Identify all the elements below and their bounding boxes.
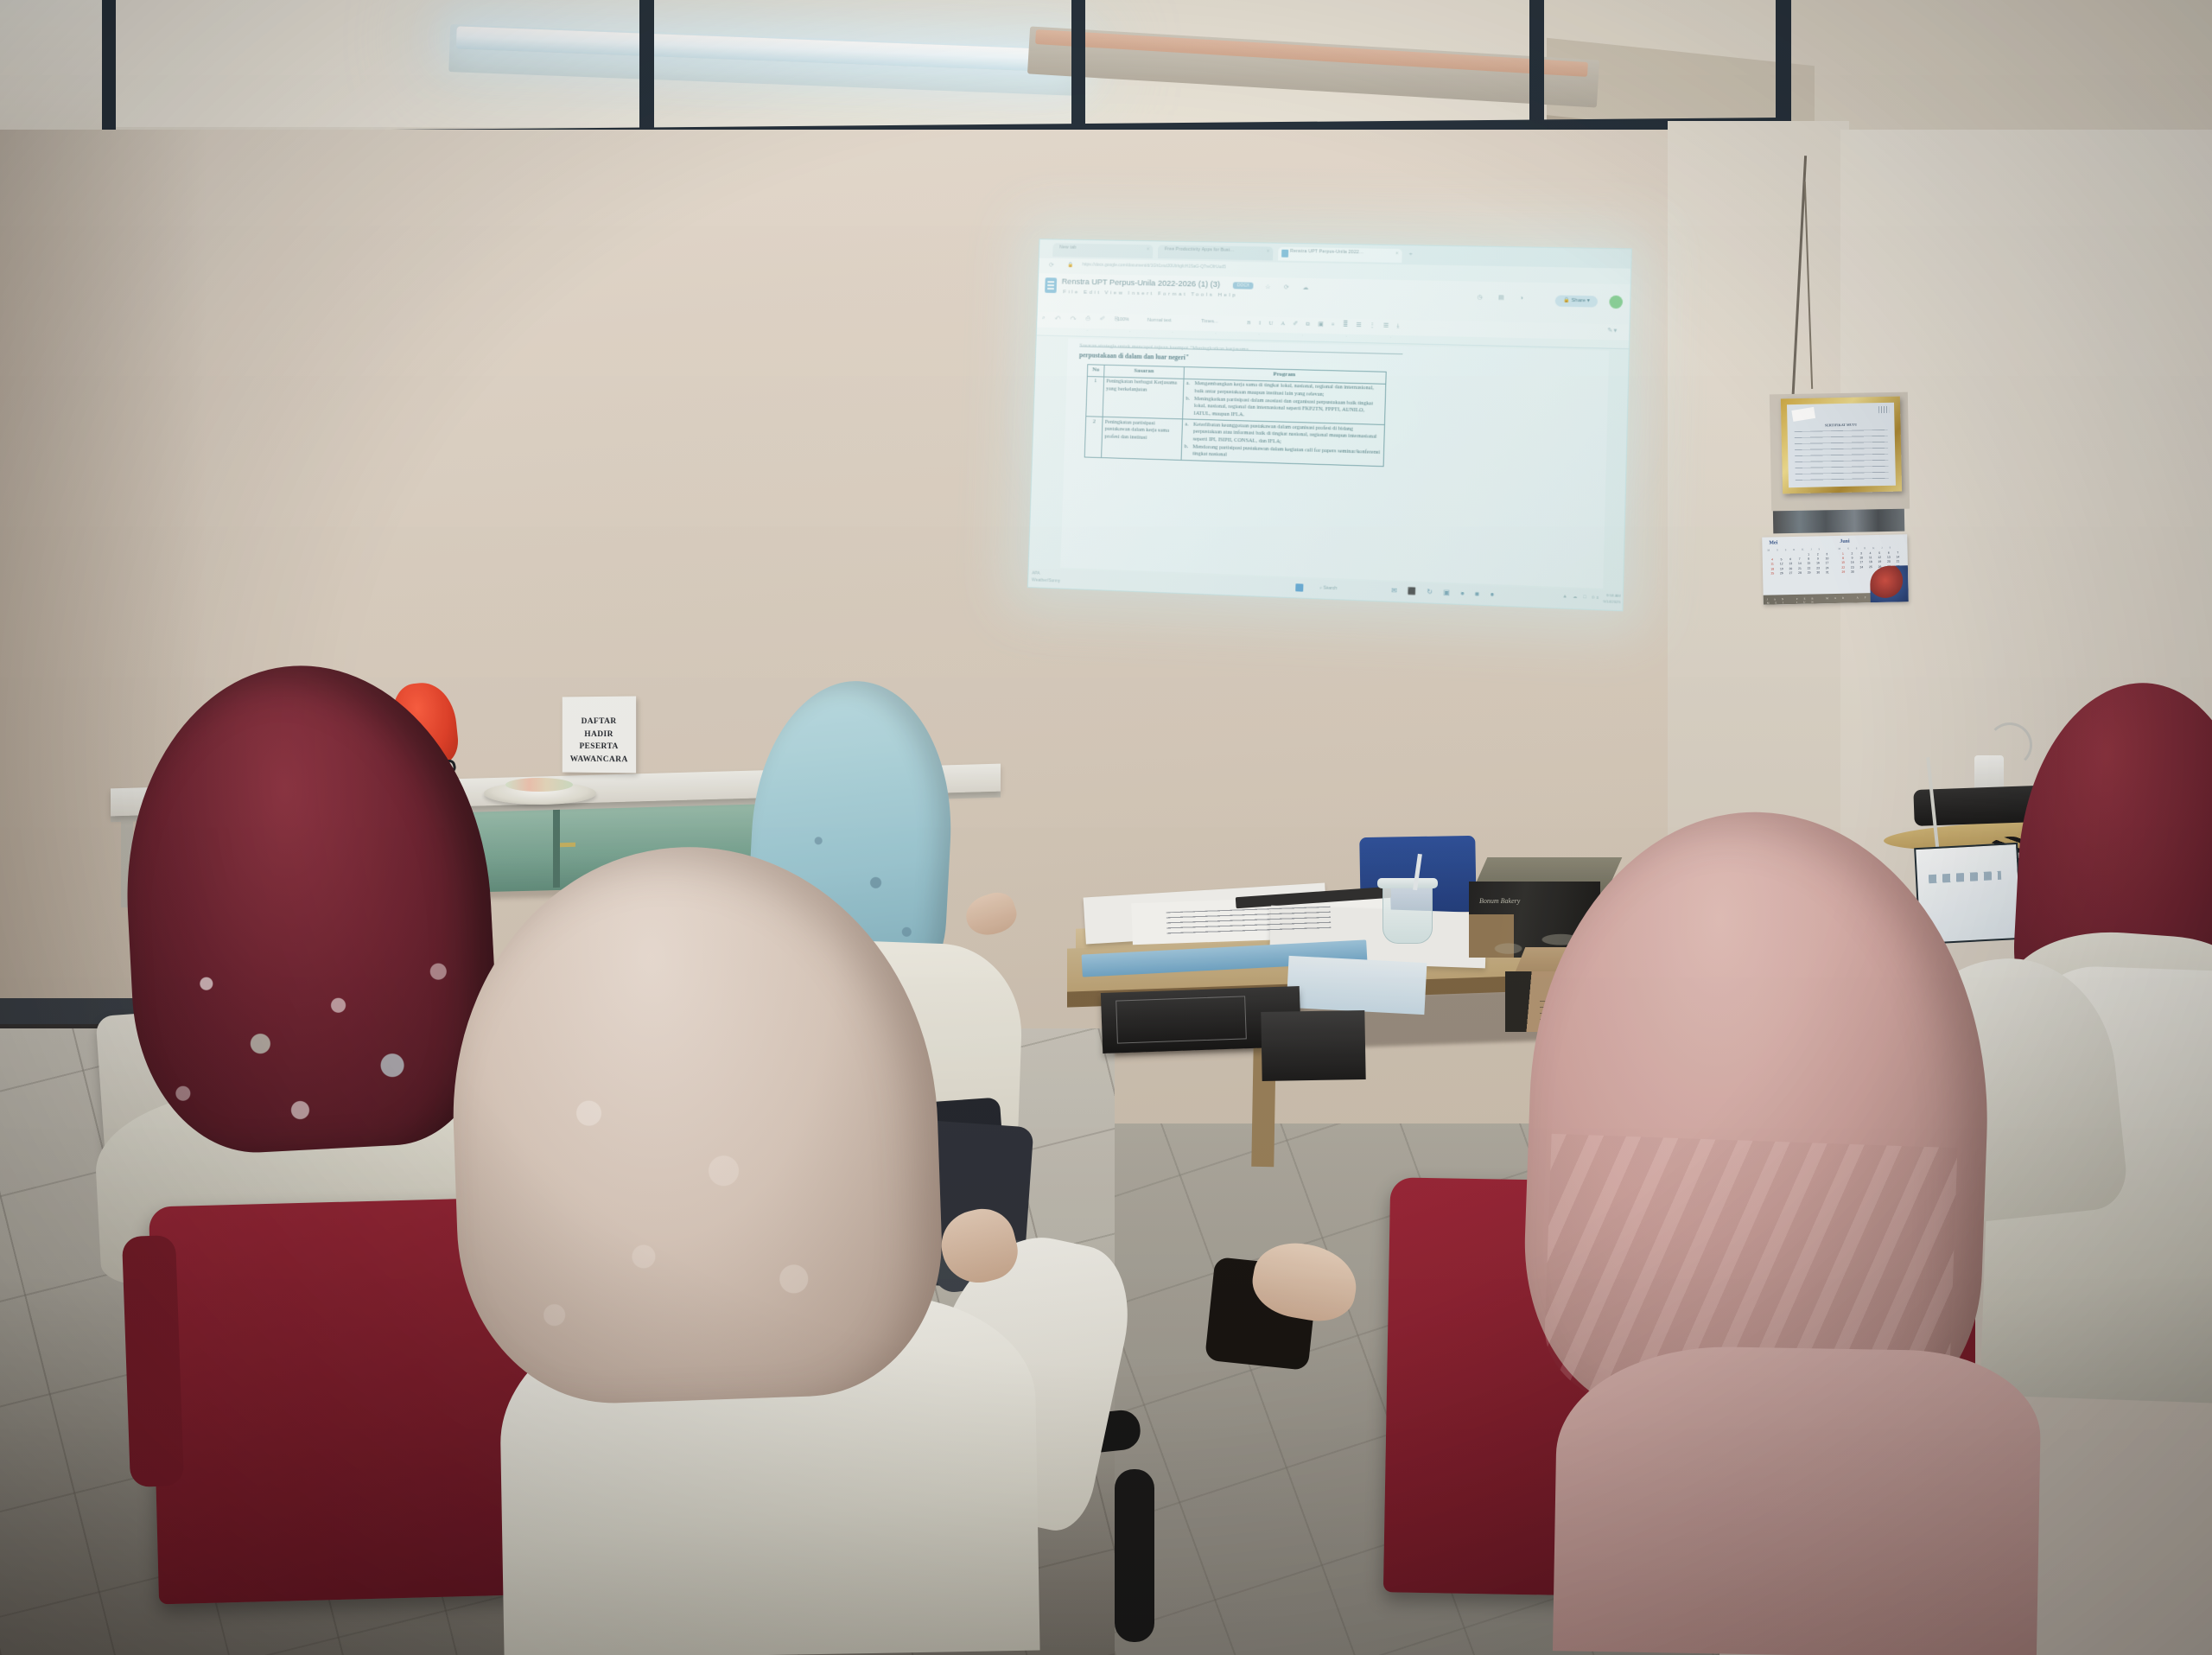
- document-title[interactable]: Renstra UPT Perpus-Unila 2022-2026 (1) (…: [1062, 277, 1221, 290]
- cell-sasaran: Peningkatan partisipasi pustakawan dalam…: [1102, 417, 1183, 459]
- black-box-panel: [1116, 996, 1247, 1043]
- calendar-day: 1: [1804, 553, 1814, 557]
- sign-line: PESERTA: [563, 741, 636, 754]
- hijab-floral-pattern: [121, 855, 499, 1159]
- partition-mullion: [1071, 0, 1085, 143]
- calendar-day: 7: [1795, 557, 1804, 561]
- edit-mode-icon[interactable]: ✎ ▾: [1607, 327, 1617, 334]
- calendar-day: 29: [1804, 570, 1814, 574]
- hijab-embroidery: [478, 1013, 905, 1373]
- cell-sasaran: Peningkatan berbagai Kerjasama yang berk…: [1103, 377, 1184, 419]
- projected-screen: New tab × Free Productivity Apps for Bus…: [1027, 239, 1632, 611]
- browser-tab-active[interactable]: Renstra UPT Perpus-Unila 2022... ×: [1278, 247, 1402, 263]
- calendar-day: 17: [1822, 561, 1832, 564]
- calendar-day: [1795, 553, 1804, 557]
- calendar-day: 10: [1857, 556, 1866, 559]
- program-table: No Sasaran Program 1 Peningkatan berbaga…: [1084, 364, 1387, 466]
- framed-certificate: SERTIFIKAT MUTU: [1781, 397, 1902, 494]
- tab-label: Renstra UPT Perpus-Unila 2022...: [1290, 249, 1363, 255]
- url-text: https://docs.google.com/document/d/1Gh1x…: [1082, 262, 1225, 270]
- partition-mullion: [1529, 0, 1544, 151]
- calendar-day: 18: [1768, 567, 1777, 570]
- certificate-paper: SERTIFIKAT MUTU: [1787, 403, 1896, 488]
- calendar-day: 12: [1875, 556, 1885, 559]
- cell-no: 1: [1086, 376, 1104, 417]
- black-box-small: [1261, 1010, 1365, 1081]
- calendar-day: 25: [1768, 571, 1777, 575]
- new-tab-icon[interactable]: +: [1409, 251, 1413, 258]
- docs-favicon-icon: [1281, 250, 1288, 258]
- calendar-day: 31: [1822, 570, 1832, 574]
- calendar-day: 14: [1893, 556, 1903, 559]
- toolbar-icons-right[interactable]: B I U A ✐ ⧉ ▣ ≡ ≣ ☰ ⋮ ☰ ⤓: [1247, 319, 1402, 330]
- font-family-select[interactable]: Times...: [1201, 319, 1217, 324]
- partition-mullion: [102, 0, 116, 138]
- calendar-mascot-image: [1870, 565, 1909, 602]
- toolbar-icons-left[interactable]: ⌕ ↶ ↷ ⎙ ✐ ⎘: [1042, 315, 1123, 323]
- calendar-day: 21: [1796, 566, 1805, 570]
- taskbar-clock[interactable]: 9:58 AM 5/14/2025: [1603, 593, 1621, 605]
- calendar-day: 11: [1866, 556, 1875, 559]
- calendar-day: 4: [1866, 551, 1875, 555]
- search-placeholder: Search: [1323, 586, 1337, 592]
- calendar-day: 25: [1866, 565, 1876, 569]
- google-docs-icon: [1045, 277, 1057, 293]
- calendar-day: 12: [1777, 563, 1786, 566]
- cell-no: 2: [1084, 417, 1103, 457]
- calendar-day: 5: [1777, 557, 1786, 561]
- calendar-day: 4: [1768, 558, 1777, 562]
- chair-frame: [1115, 1469, 1154, 1642]
- calendar-day: 29: [1839, 570, 1848, 573]
- file-format-badge: DOCX: [1233, 282, 1254, 289]
- calendar-day: 7: [1893, 551, 1903, 554]
- calendar-day: 26: [1777, 571, 1787, 575]
- partition-mullion: [639, 0, 654, 137]
- calendar-day: 15: [1839, 561, 1848, 564]
- calendar-day: 16: [1814, 562, 1823, 565]
- certificate-seal-icon: [1791, 407, 1815, 422]
- taskbar-search[interactable]: ⌕ Search: [1319, 585, 1337, 591]
- lock-icon: 🔒: [1067, 262, 1073, 268]
- certificate-title: SERTIFIKAT MUTU: [1787, 422, 1894, 429]
- weather-sub: Weather/Sunny: [1032, 577, 1060, 583]
- calendar-day: 11: [1768, 563, 1777, 566]
- calendar-day: 8: [1839, 557, 1848, 560]
- clock-time: 9:58 AM: [1606, 593, 1621, 598]
- program-item: b. Meningkatkan partisipasi dalam asosia…: [1185, 396, 1383, 423]
- calendar-day: 13: [1786, 562, 1796, 565]
- sign-line: DAFTAR: [563, 716, 636, 729]
- program-marker: a.: [1185, 380, 1192, 395]
- share-button[interactable]: 🔒 Share ▾: [1555, 296, 1598, 308]
- calendar-day: 27: [1786, 571, 1796, 575]
- browser-tab[interactable]: New tab ×: [1052, 243, 1153, 258]
- calendar-day: 3: [1822, 552, 1832, 556]
- calendar-day: [1786, 553, 1796, 557]
- calendar-dow: M S S R K J S: [1767, 547, 1822, 551]
- calendar-day: 23: [1814, 566, 1823, 570]
- close-icon[interactable]: ×: [1267, 249, 1270, 254]
- cup-lid: [1377, 878, 1438, 888]
- cell-program: a. Keterlibatan keanggotaan pustakawan d…: [1181, 419, 1384, 466]
- calendar-day: 19: [1777, 567, 1786, 570]
- calendar-day: 21: [1893, 560, 1903, 563]
- calendar-day-grid: 1234567891011121314151617181920212223242…: [1768, 552, 1833, 575]
- calendar-month-name: Mei: [1769, 540, 1777, 545]
- snack-food: [505, 778, 573, 792]
- close-icon[interactable]: ×: [1147, 247, 1149, 252]
- calendar-day: 23: [1847, 565, 1857, 569]
- certificate-body-lines: [1795, 430, 1889, 483]
- cabinet-handle[interactable]: [560, 843, 575, 847]
- calendar-day: 2: [1847, 551, 1857, 555]
- plastic-cup: [1382, 883, 1433, 944]
- share-label: Share: [1571, 298, 1586, 303]
- calendar-day: 22: [1804, 566, 1814, 570]
- program-marker: a.: [1185, 421, 1192, 442]
- calendar-day: 13: [1885, 556, 1894, 559]
- calendar-month-name: Juni: [1840, 539, 1849, 544]
- calendar-month: Mei M S S R K J S 1234567891011121314151…: [1764, 539, 1837, 602]
- clock-date: 5/14/2025: [1603, 599, 1620, 604]
- certificate-logo-icon: [1878, 406, 1889, 413]
- calendar-day: 8: [1804, 557, 1814, 561]
- sign-text: DAFTAR HADIR PESERTA WAWANCARA: [563, 716, 636, 767]
- table-row: 2 Peningkatan partisipasi pustakawan dal…: [1084, 417, 1384, 466]
- docs-menu-bar[interactable]: File Edit View Insert Format Tools Help: [1063, 289, 1237, 298]
- box-brand-text: Bonum Bakery: [1479, 897, 1548, 905]
- calendar-day: 22: [1839, 565, 1848, 569]
- start-button-icon[interactable]: [1296, 583, 1304, 591]
- calendar-day: 2: [1813, 552, 1822, 556]
- avatar[interactable]: [1609, 296, 1623, 309]
- daftar-hadir-sign: DAFTAR HADIR PESERTA WAWANCARA: [563, 697, 636, 773]
- program-marker: b.: [1185, 396, 1192, 417]
- calendar-day: 14: [1796, 562, 1805, 565]
- person-body: [1553, 1344, 2042, 1655]
- column-header-no: No: [1087, 365, 1104, 377]
- chair-armrest: [122, 1235, 184, 1487]
- program-text: Meningkatkan partisipasi dalam asosiasi …: [1193, 396, 1382, 423]
- open-document: [1287, 956, 1427, 1015]
- cabinet-seam: [553, 808, 560, 888]
- program-marker: b.: [1184, 443, 1190, 458]
- calendar-day: 3: [1857, 551, 1866, 555]
- calendar-day: 24: [1822, 566, 1832, 570]
- calendar-day: 9: [1847, 557, 1857, 560]
- taskbar-weather-widget[interactable]: APA Weather/Sunny: [1032, 570, 1061, 584]
- sign-line: WAWANCARA: [563, 754, 636, 767]
- history-comment-icons[interactable]: ◷ ▤ ◑: [1478, 294, 1531, 302]
- calendar-day: 17: [1857, 561, 1866, 564]
- calendar-day: [1777, 553, 1786, 557]
- calendar-day: 6: [1884, 551, 1893, 555]
- browser-tab[interactable]: Free Productivity Apps for Busi... ×: [1158, 245, 1274, 260]
- calendar-dow: M S S R K J S: [1838, 546, 1893, 551]
- sign-line: HADIR: [563, 729, 636, 742]
- calendar-day: 10: [1822, 557, 1832, 560]
- calendar-day: 19: [1875, 560, 1885, 563]
- calendar-day: 5: [1875, 551, 1885, 555]
- reload-icon[interactable]: ⟳: [1049, 262, 1054, 269]
- calendar-day: [1768, 553, 1777, 557]
- calendar-day: 16: [1847, 561, 1857, 564]
- calendar-day: 28: [1796, 570, 1805, 574]
- calendar-day: 18: [1866, 560, 1875, 563]
- tab-label: Free Productivity Apps for Busi...: [1165, 246, 1234, 252]
- desk-calendar: Mei M S S R K J S 1234567891011121314151…: [1762, 534, 1909, 605]
- calendar-day: 30: [1814, 570, 1823, 574]
- paragraph-style-select[interactable]: Normal text: [1147, 318, 1172, 324]
- calendar-day: 20: [1786, 567, 1796, 570]
- calendar-day: 30: [1848, 570, 1858, 573]
- room-photo-scene: New tab × Free Productivity Apps for Bus…: [0, 0, 2212, 1655]
- zoom-level[interactable]: 100%: [1117, 317, 1129, 322]
- weather-label: APA: [1032, 570, 1039, 576]
- calendar-day: 9: [1814, 557, 1823, 560]
- star-cloud-icons[interactable]: ☆ ⟳ ☁: [1265, 283, 1314, 291]
- close-icon[interactable]: ×: [1395, 251, 1399, 257]
- taskbar-app-icons[interactable]: ✉ ⬛ ↻ ▣ ● ■ ●: [1391, 587, 1499, 599]
- calendar-day: 1: [1839, 552, 1848, 556]
- cell-program: a. Mengembangkan kerja sama di tingkat l…: [1183, 379, 1386, 424]
- calendar-day: 24: [1857, 565, 1866, 569]
- calendar-day: 15: [1804, 562, 1814, 565]
- calendar-day: 20: [1885, 560, 1894, 563]
- calendar-day: 6: [1786, 557, 1796, 561]
- system-tray-icons[interactable]: ▲ ☁ □ ὐa: [1562, 594, 1601, 601]
- tab-label: New tab: [1059, 245, 1077, 250]
